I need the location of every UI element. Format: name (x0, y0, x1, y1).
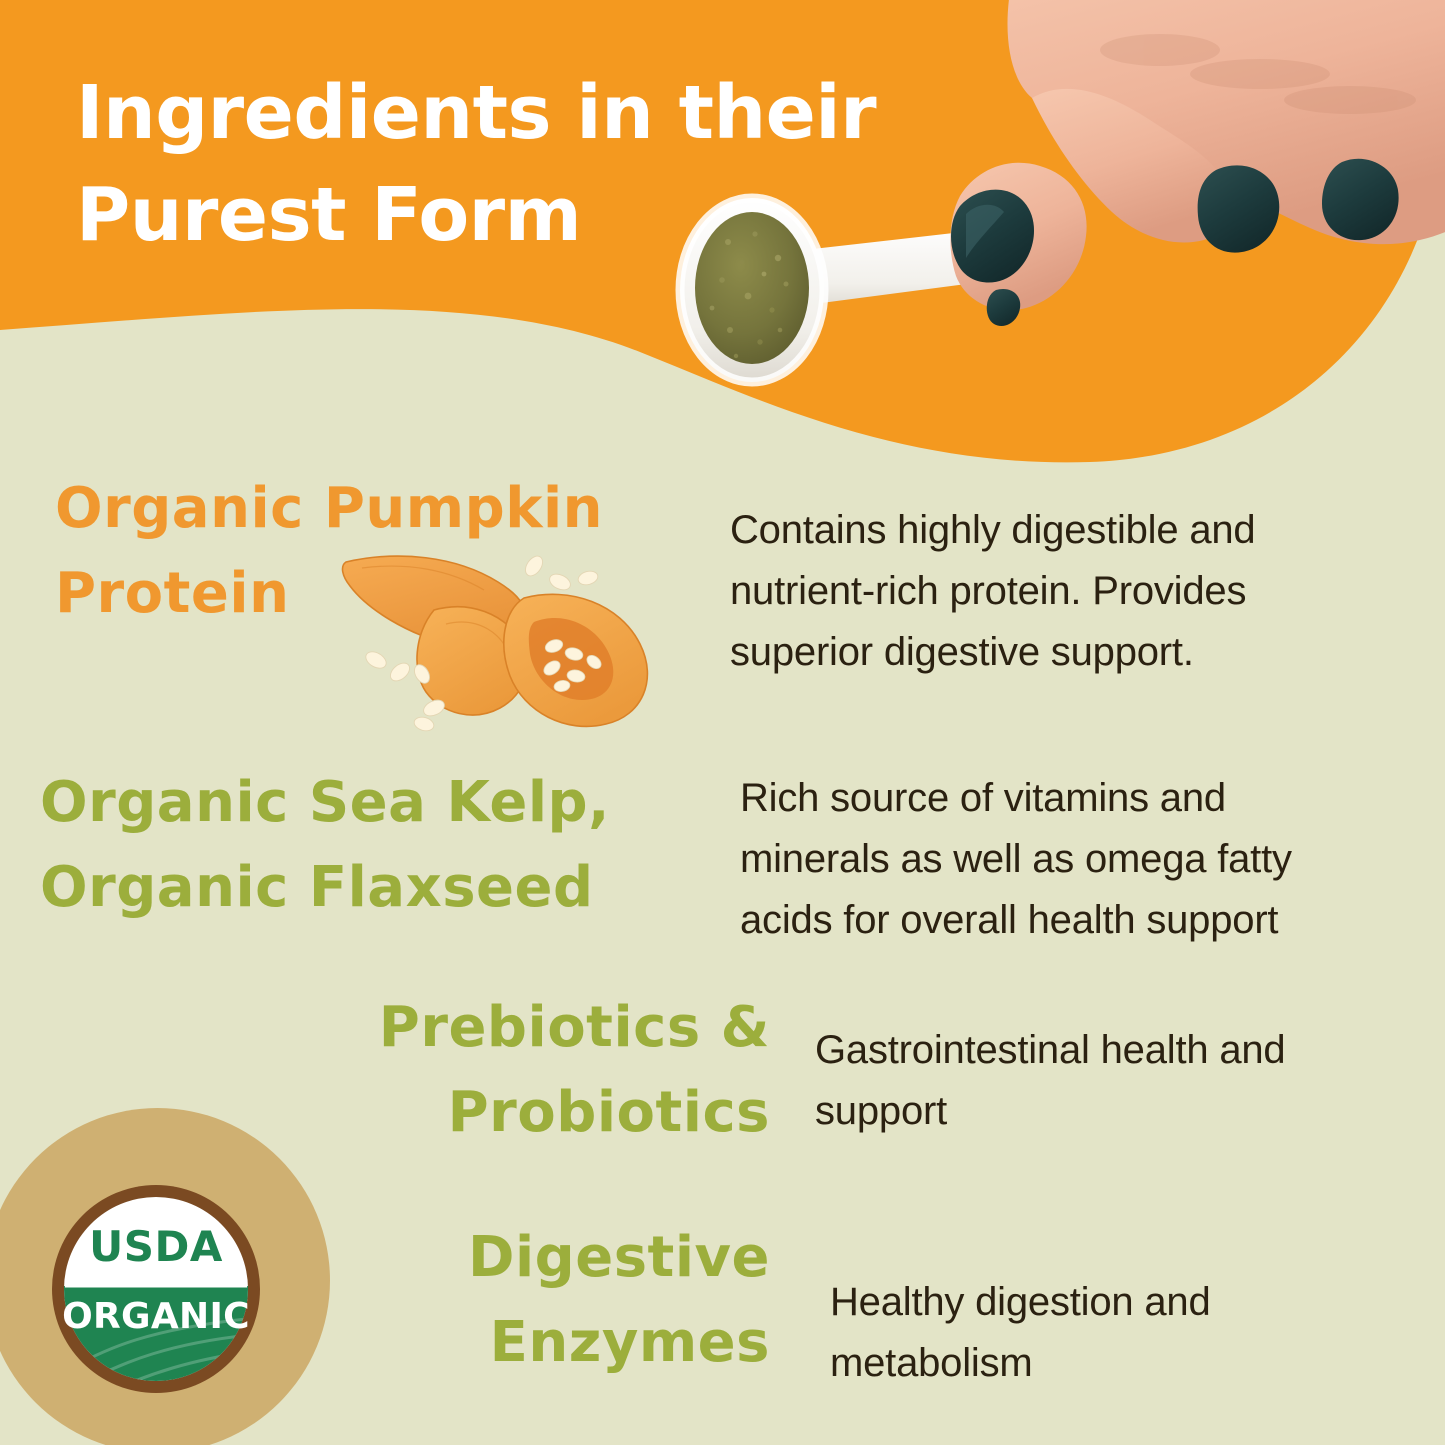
ingredient-description-pumpkin-protein: Contains highly digestible and nutrient-… (730, 500, 1420, 682)
nail-polish (1198, 165, 1280, 252)
ingredient-name-line1: Organic Sea Kelp, (40, 760, 710, 845)
usda-organic-seal: USDA ORGANIC (45, 1178, 267, 1400)
description-line1: Contains highly digestible and (730, 500, 1420, 561)
description-line1: Gastrointestinal health and (815, 1020, 1425, 1081)
description-line3: superior digestive support. (730, 622, 1420, 683)
description-line3: acids for overall health support (740, 890, 1440, 951)
ingredient-name-prebiotics-probiotics: Prebiotics & Probiotics (260, 985, 770, 1155)
ingredient-description-digestive-enzymes: Healthy digestion and metabolism (830, 1272, 1410, 1394)
seal-organic-text: ORGANIC (45, 1296, 267, 1337)
description-line2: nutrient-rich protein. Provides (730, 561, 1420, 622)
ingredient-name-line1: Prebiotics & (260, 985, 770, 1070)
description-line2: support (815, 1081, 1425, 1142)
ingredient-name-line1: Organic Pumpkin (55, 466, 695, 551)
ingredient-name-line2: Enzymes (330, 1300, 770, 1385)
description-line1: Healthy digestion and (830, 1272, 1410, 1333)
ingredient-name-line2: Probiotics (260, 1070, 770, 1155)
hand-icon (950, 0, 1445, 326)
ingredients-infographic: Ingredients in their Purest Form Organic… (0, 0, 1445, 1445)
ingredient-description-prebiotics-probiotics: Gastrointestinal health and support (815, 1020, 1425, 1142)
page-title-line2: Purest Form (76, 164, 1016, 266)
page-title: Ingredients in their Purest Form (76, 62, 1016, 266)
nail-polish (1322, 159, 1399, 240)
ingredient-description-sea-kelp-flaxseed: Rich source of vitamins and minerals as … (740, 768, 1440, 950)
description-line2: metabolism (830, 1333, 1410, 1394)
description-line1: Rich source of vitamins and (740, 768, 1440, 829)
ingredient-name-line1: Digestive (330, 1215, 770, 1300)
usda-organic-seal-icon (45, 1178, 267, 1400)
seal-usda-text: USDA (45, 1222, 267, 1271)
description-line2: minerals as well as omega fatty (740, 829, 1440, 890)
ingredient-name-line2: Organic Flaxseed (40, 845, 710, 930)
ingredient-name-sea-kelp-flaxseed: Organic Sea Kelp, Organic Flaxseed (40, 760, 710, 930)
pumpkin-slices-icon (338, 548, 668, 743)
ingredient-name-digestive-enzymes: Digestive Enzymes (330, 1215, 770, 1385)
page-title-line1: Ingredients in their (76, 62, 1016, 164)
